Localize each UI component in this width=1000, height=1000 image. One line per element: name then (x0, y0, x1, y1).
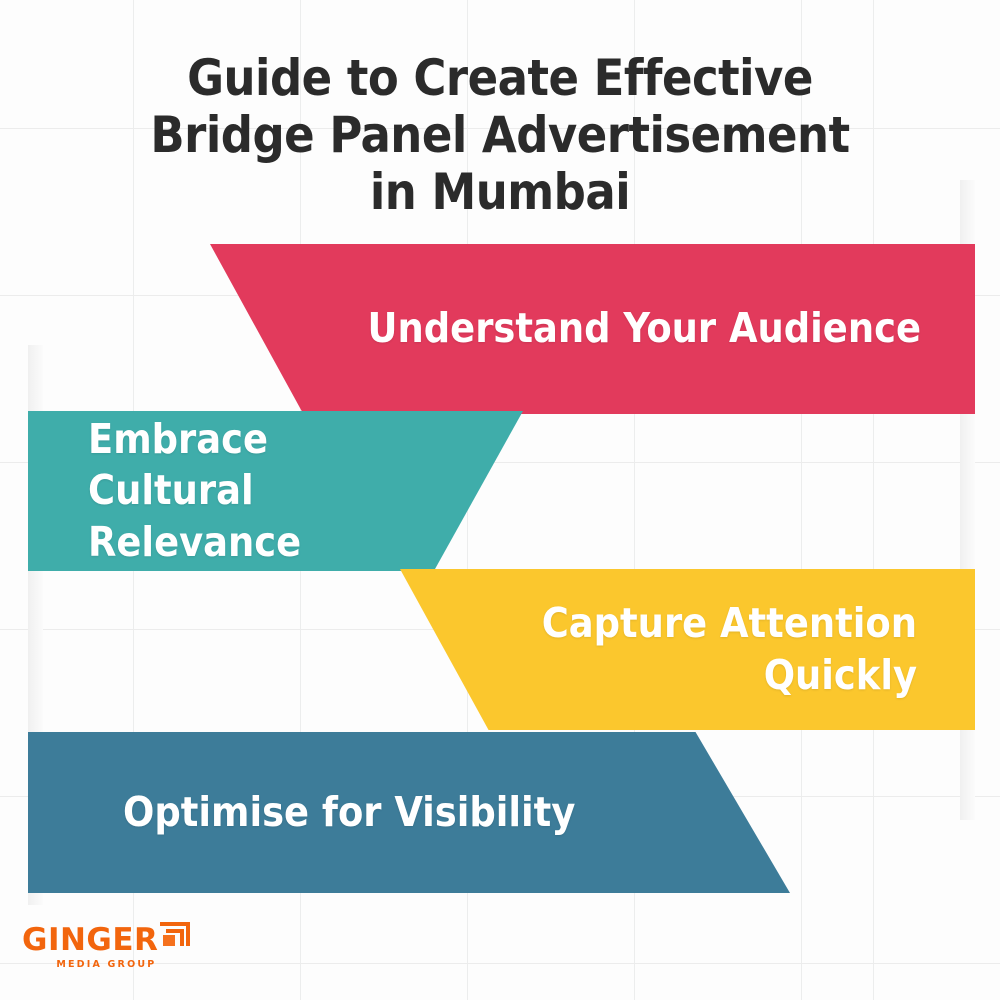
brand-name: GINGER (22, 925, 158, 956)
brand-tagline: MEDIA GROUP (56, 960, 156, 970)
step-label: Embrace Cultural Relevance (88, 414, 403, 568)
step-band-optimise-for-visibility[interactable]: Optimise for Visibility (28, 732, 790, 893)
step-band-understand-your-audience[interactable]: Understand Your Audience (210, 244, 975, 414)
title-line-3: in Mumbai (28, 164, 972, 221)
step-label: Understand Your Audience (360, 303, 921, 354)
nested-corner-squares-icon (160, 922, 190, 950)
step-band-embrace-cultural-relevance[interactable]: Embrace Cultural Relevance (28, 411, 523, 571)
step-band-capture-attention-quickly[interactable]: Capture Attention Quickly (400, 569, 975, 730)
infographic-canvas: Guide to Create Effective Bridge Panel A… (0, 0, 1000, 1000)
brand-logo[interactable]: GINGER MEDIA GROUP (22, 925, 190, 970)
title-line-1: Guide to Create Effective (28, 50, 972, 107)
step-label: Optimise for Visibility (123, 787, 590, 838)
title-line-2: Bridge Panel Advertisement (28, 107, 972, 164)
step-label: Capture Attention Quickly (540, 598, 917, 701)
page-title: Guide to Create Effective Bridge Panel A… (0, 50, 1000, 221)
brand-logo-text: GINGER MEDIA GROUP (22, 925, 158, 970)
